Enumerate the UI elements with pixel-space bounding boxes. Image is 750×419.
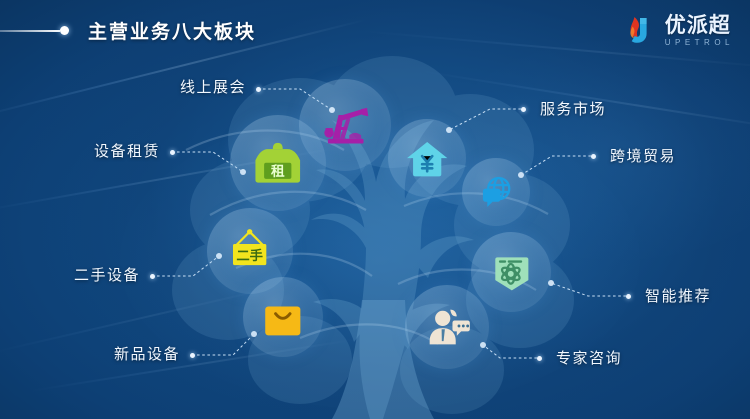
node-label-new-equipment[interactable]: 新品设备 <box>114 343 180 364</box>
node-label-used-equipment[interactable]: 二手设备 <box>74 264 140 285</box>
node-label-equipment-rental[interactable]: 设备租赁 <box>94 140 160 161</box>
node-bubble-smart-recommendation[interactable] <box>471 232 551 312</box>
node-bubble-expert-consulting[interactable] <box>405 285 489 369</box>
node-bubble-cross-border-trade[interactable] <box>462 158 530 226</box>
browser-gear-icon <box>486 247 536 297</box>
svg-text:二手: 二手 <box>237 247 264 263</box>
connector-dot-smart-recommendation <box>626 294 631 299</box>
tree-silhouette-icon <box>0 0 750 419</box>
connector-dot-cross-border-trade <box>591 154 596 159</box>
node-bubble-service-market[interactable] <box>388 119 466 197</box>
connector-dot-equipment-rental <box>170 150 175 155</box>
connector-dot-used-equipment <box>150 274 155 279</box>
node-label-online-exhibition[interactable]: 线上展会 <box>180 76 246 97</box>
consultant-person-chat-icon <box>421 301 473 353</box>
connector-dot-new-equipment <box>190 353 195 358</box>
node-bubble-new-equipment[interactable] <box>243 277 323 357</box>
svg-text:租: 租 <box>271 163 285 179</box>
connector-dot-service-market <box>521 107 526 112</box>
node-label-cross-border-trade[interactable]: 跨境贸易 <box>610 145 676 166</box>
node-bubble-equipment-rental[interactable]: 租 <box>230 115 326 211</box>
secondhand-hanging-sign-icon: 二手 <box>223 224 276 277</box>
globe-chat-icon <box>475 171 517 213</box>
node-label-expert-consulting[interactable]: 专家咨询 <box>556 347 622 368</box>
slide-canvas: 主营业务八大板块 优派超 UPETROL <box>0 0 750 419</box>
oil-pumpjack-icon <box>316 96 373 153</box>
connector-dot-online-exhibition <box>256 87 261 92</box>
house-yuan-icon <box>403 134 451 182</box>
rental-tent-sign-icon: 租 <box>248 133 308 193</box>
connector-dot-expert-consulting <box>537 356 542 361</box>
node-label-service-market[interactable]: 服务市场 <box>540 98 606 119</box>
node-label-smart-recommendation[interactable]: 智能推荐 <box>645 285 711 306</box>
shopping-bag-icon <box>258 292 308 342</box>
